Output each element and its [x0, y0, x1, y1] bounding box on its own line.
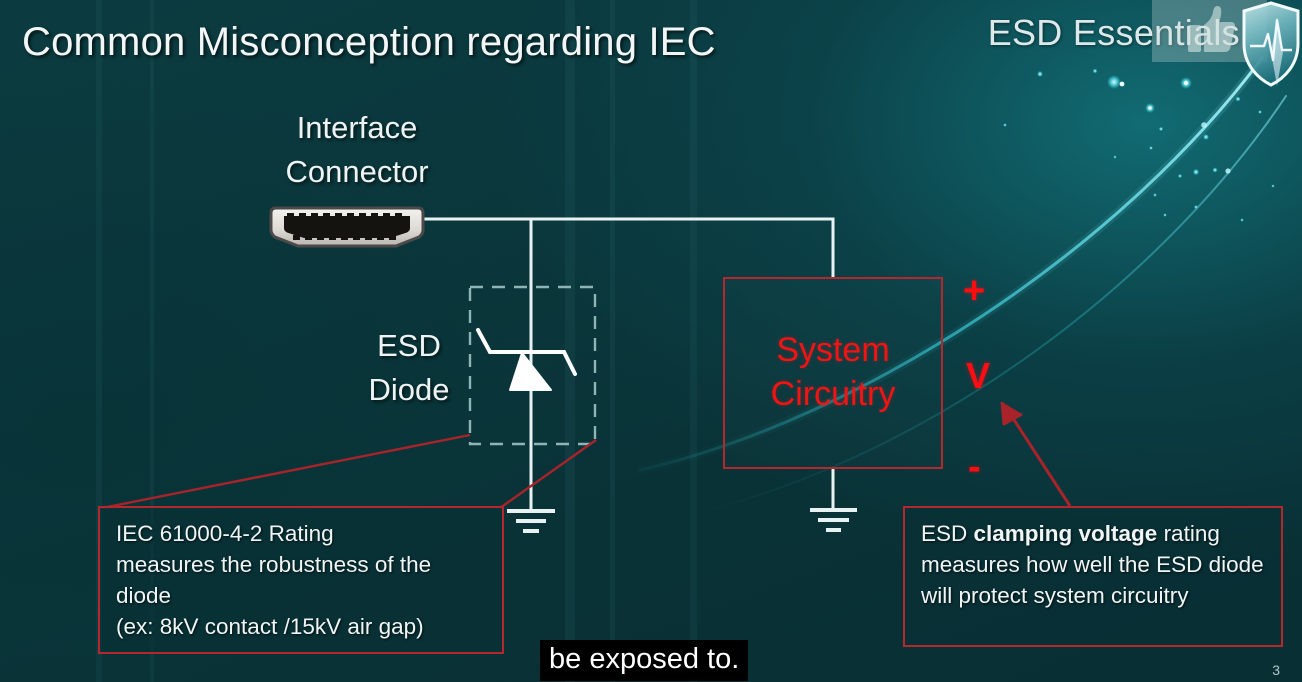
esd-diode-label-line2: Diode — [343, 368, 475, 412]
slide-canvas: Common Misconception regarding IEC ESD E… — [0, 0, 1302, 682]
system-circuitry-label: System Circuitry — [771, 329, 896, 416]
voltage-plus-marker: + — [963, 272, 985, 310]
callout-left-leader-lines — [102, 435, 596, 508]
callout-right-arrow — [1002, 402, 1070, 506]
system-circuitry-line2: Circuitry — [771, 373, 896, 417]
system-circuitry-box: System Circuitry — [723, 277, 943, 469]
interface-connector-label: Interface Connector — [262, 106, 452, 194]
esd-diode-label: ESD Diode — [343, 324, 475, 412]
zener-diode-symbol — [478, 330, 575, 390]
page-number: 3 — [1272, 662, 1280, 678]
callout-left-line1: IEC 61000-4-2 Rating — [116, 518, 488, 549]
ground-symbol-diode — [507, 511, 555, 531]
subtitle-caption: be exposed to. — [540, 640, 748, 681]
interface-connector-label-line2: Connector — [262, 150, 452, 194]
esd-diode-label-line1: ESD — [343, 324, 475, 368]
callout-iec-rating: IEC 61000-4-2 Rating measures the robust… — [98, 506, 504, 654]
system-circuitry-line1: System — [771, 329, 896, 373]
callout-left-line2: measures the robustness of the — [116, 549, 488, 580]
interface-connector-label-line1: Interface — [262, 106, 452, 150]
voltage-v-label: V — [966, 358, 990, 394]
callout-right-seg1: ESD — [921, 521, 974, 546]
callout-left-line3: diode — [116, 580, 488, 611]
callout-right-seg2-bold: clamping voltage — [974, 521, 1158, 546]
hdmi-connector-icon — [268, 204, 426, 250]
callout-left-line4: (ex: 8kV contact /15kV air gap) — [116, 611, 488, 642]
ground-symbol-system — [810, 510, 857, 530]
voltage-minus-marker: - — [968, 448, 981, 486]
callout-clamping-voltage: ESD clamping voltage rating measures how… — [903, 506, 1283, 647]
